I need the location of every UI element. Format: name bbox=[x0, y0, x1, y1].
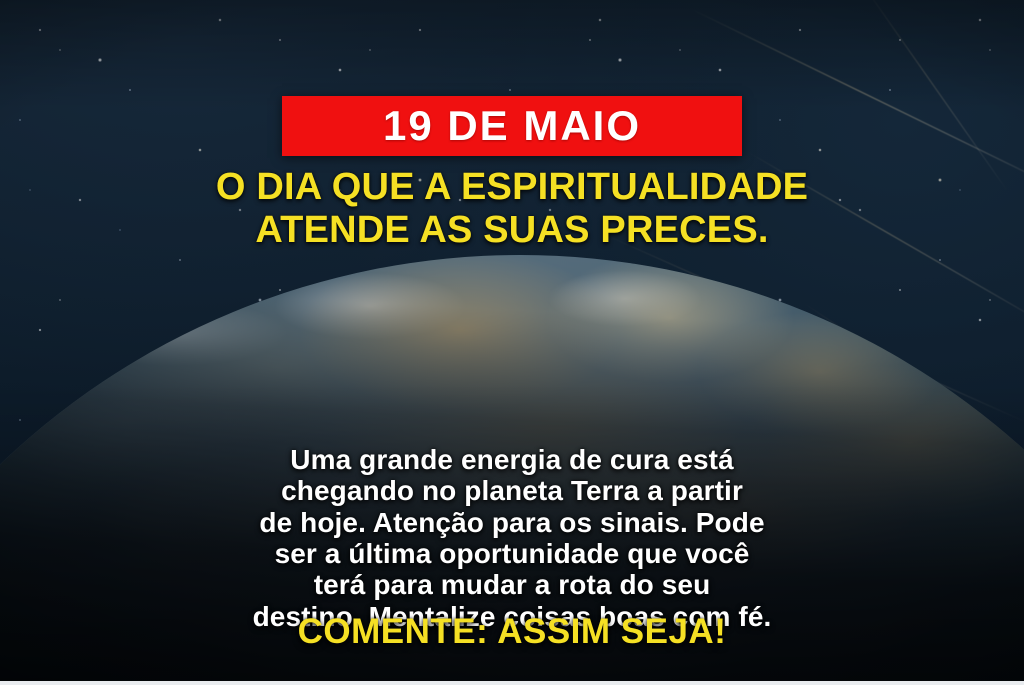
date-banner-label: 19 DE MAIO bbox=[383, 105, 641, 147]
headline-line-2: ATENDE AS SUAS PRECES. bbox=[48, 209, 976, 252]
call-to-action-text: COMENTE: ASSIM SEJA! bbox=[0, 612, 1024, 652]
headline: O DIA QUE A ESPIRITUALIDADE ATENDE AS SU… bbox=[0, 166, 1024, 253]
headline-line-1: O DIA QUE A ESPIRITUALIDADE bbox=[48, 166, 976, 209]
date-banner: 19 DE MAIO bbox=[282, 96, 742, 156]
body-line-1: Uma grande energia de cura está bbox=[56, 444, 968, 475]
body-text: Uma grande energia de cura está chegando… bbox=[0, 444, 1024, 632]
body-line-5: terá para mudar a rota do seu bbox=[56, 569, 968, 600]
body-line-3: de hoje. Atenção para os sinais. Pode bbox=[56, 507, 968, 538]
poster-image: 19 DE MAIO O DIA QUE A ESPIRITUALIDADE A… bbox=[0, 0, 1024, 685]
body-line-2: chegando no planeta Terra a partir bbox=[56, 475, 968, 506]
poster-content: 19 DE MAIO O DIA QUE A ESPIRITUALIDADE A… bbox=[0, 0, 1024, 685]
bottom-edge-strip bbox=[0, 681, 1024, 685]
body-line-4: ser a última oportunidade que você bbox=[56, 538, 968, 569]
